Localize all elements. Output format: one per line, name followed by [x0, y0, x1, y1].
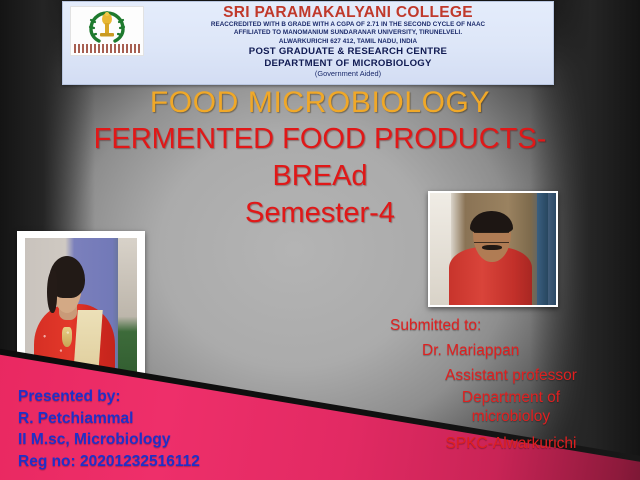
faculty-photo	[428, 191, 558, 307]
subject-title: FOOD MICROBIOLOGY	[0, 86, 640, 120]
submitted-to-block: Submitted to: Dr. Mariappan Assistant pr…	[386, 313, 636, 456]
topic-title-line1: FERMENTED FOOD PRODUCTS-	[0, 121, 640, 158]
presenter-course: II M.sc, Microbiology	[18, 429, 200, 451]
faculty-department-line2: microbioloy	[386, 407, 636, 426]
faculty-department-line1: Department of	[386, 388, 636, 407]
presented-by-label: Presented by:	[18, 386, 200, 408]
faculty-designation: Assistant professor	[386, 363, 636, 388]
accreditation-line: REACCREDITED WITH B GRADE WITH A CGPA OF…	[147, 21, 549, 29]
college-emblem-icon	[70, 6, 144, 56]
aided-line: (Government Aided)	[147, 69, 549, 78]
department-line: DEPARTMENT OF MICROBIOLOGY	[147, 58, 549, 69]
presentation-slide: SRI PARAMAKALYANI COLLEGE REACCREDITED W…	[0, 0, 640, 480]
faculty-institution: SPKC-Alwarkurichi	[386, 426, 636, 456]
centre-line: POST GRADUATE & RESEARCH CENTRE	[147, 46, 549, 57]
topic-title-line2: BREAd	[0, 158, 640, 195]
emblem-tamil-motto	[74, 44, 140, 53]
college-name: SRI PARAMAKALYANI COLLEGE	[147, 4, 549, 21]
faculty-name: Dr. Mariappan	[386, 338, 636, 363]
college-letterhead: SRI PARAMAKALYANI COLLEGE REACCREDITED W…	[62, 1, 554, 85]
presenter-name: R. Petchiammal	[18, 408, 200, 430]
presented-by-block: Presented by: R. Petchiammal II M.sc, Mi…	[18, 386, 200, 472]
letterhead-text-block: SRI PARAMAKALYANI COLLEGE REACCREDITED W…	[147, 4, 549, 78]
presenter-reg-no: Reg no: 20201232516112	[18, 451, 200, 473]
affiliation-line: AFFILIATED TO MANOMANIUM SUNDARANAR UNIV…	[147, 29, 549, 37]
submitted-to-label: Submitted to:	[386, 313, 636, 338]
address-line: ALWARKURICHI 627 412, TAMIL NADU, INDIA	[147, 38, 549, 46]
